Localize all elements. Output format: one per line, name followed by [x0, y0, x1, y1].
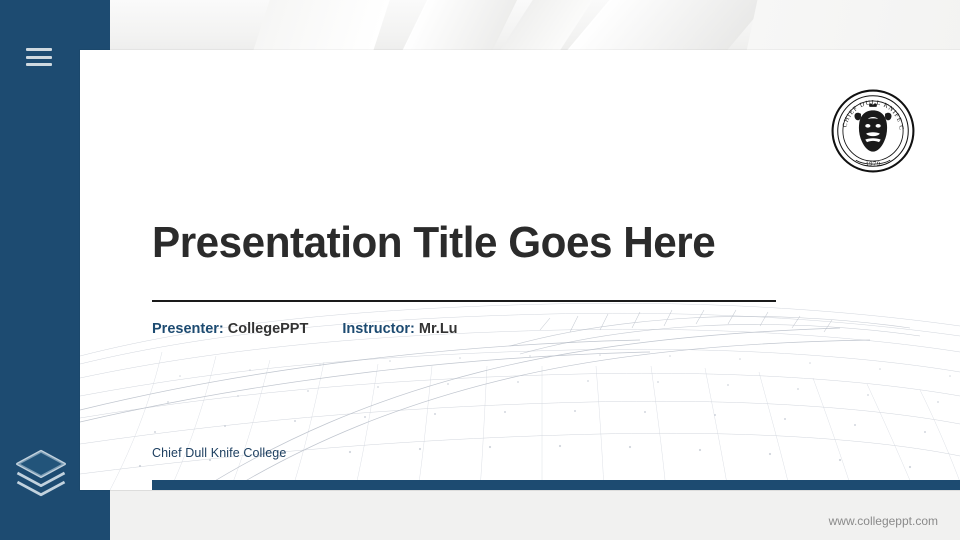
- presenter-field: Presenter: CollegePPT: [152, 321, 308, 337]
- presenter-name: CollegePPT: [228, 321, 309, 337]
- menu-line-2: [26, 56, 52, 59]
- swoosh-shape-5: [734, 0, 960, 50]
- site-url: www.collegeppt.com: [829, 514, 938, 528]
- menu-line-1: [26, 48, 52, 51]
- presentation-viewer: CHIEF DULL KNIFE COLLEGE 1979 Presentati…: [0, 0, 960, 540]
- page-title: Presentation Title Goes Here: [152, 218, 824, 268]
- swoosh-shape-1: [237, 0, 402, 50]
- instructor-label: Instructor:: [342, 321, 415, 337]
- byline: Presenter: CollegePPT Instructor: Mr.Lu: [152, 321, 458, 337]
- hamburger-menu-icon[interactable]: [26, 44, 54, 70]
- college-seal-icon: CHIEF DULL KNIFE COLLEGE 1979: [830, 88, 916, 174]
- backdrop-top-decoration: [110, 0, 960, 50]
- slide-footer-bar: [152, 480, 960, 490]
- presenter-label: Presenter:: [152, 321, 224, 337]
- stacked-layers-logo-icon[interactable]: [12, 444, 70, 502]
- menu-line-3: [26, 63, 52, 66]
- instructor-field: Instructor: Mr.Lu: [342, 321, 457, 337]
- title-divider: [152, 300, 776, 302]
- slide-canvas[interactable]: CHIEF DULL KNIFE COLLEGE 1979 Presentati…: [80, 50, 960, 490]
- slide-footer-text: Chief Dull Knife College: [152, 446, 286, 460]
- instructor-name: Mr.Lu: [419, 321, 458, 337]
